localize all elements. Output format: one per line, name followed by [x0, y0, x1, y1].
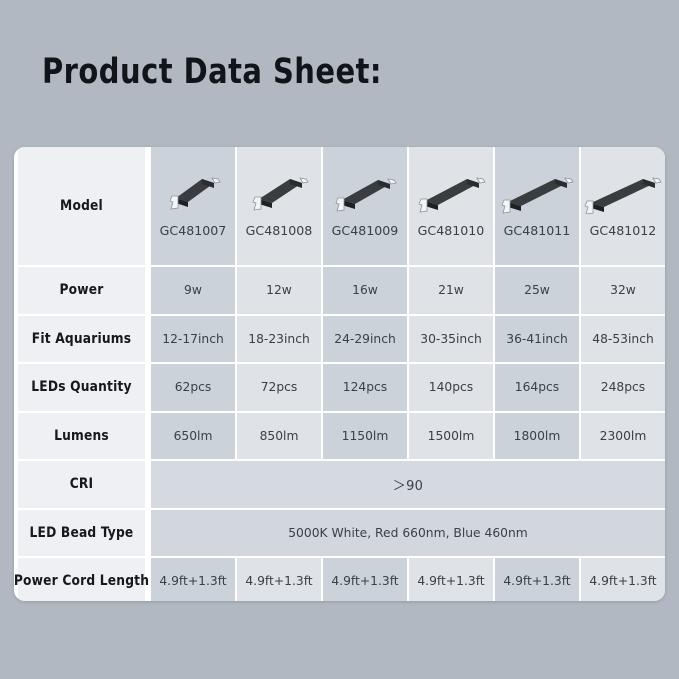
power-cells: 9w 12w 16w 21w 25w 32w: [149, 267, 665, 314]
row-label-power: Power: [18, 267, 145, 314]
leds-quantity-cells: 62pcs 72pcs 124pcs 140pcs 164pcs 248pcs: [149, 364, 665, 411]
fit-aquariums-cell-3: 24-29inch: [321, 316, 407, 363]
led-bead-type-value: 5000K White, Red 660nm, Blue 460nm: [149, 510, 665, 557]
aquarium-led-light-bar-icon: [582, 165, 664, 217]
table-row-power: Power 9w 12w 16w 21w 25w 32w: [14, 265, 665, 314]
cri-value: ＞90: [149, 461, 665, 508]
leds-quantity-cell-2: 72pcs: [235, 364, 321, 411]
row-label-power-cord-length: Power Cord Length: [18, 558, 145, 601]
aquarium-led-light-bar-icon: [414, 165, 488, 217]
power-cell-1: 9w: [149, 267, 235, 314]
model-code: GC481009: [332, 223, 399, 238]
fit-aquariums-cell-5: 36-41inch: [493, 316, 579, 363]
model-code: GC481008: [246, 223, 313, 238]
row-label-cri: CRI: [18, 461, 145, 508]
model-code: GC481007: [160, 223, 227, 238]
power-cell-4: 21w: [407, 267, 493, 314]
lumens-cells: 650lm 850lm 1150lm 1500lm 1800lm 2300lm: [149, 413, 665, 460]
model-cell-4: GC481010: [407, 147, 493, 265]
row-label-model: Model: [18, 147, 145, 265]
lumens-cell-3: 1150lm: [321, 413, 407, 460]
power-cell-3: 16w: [321, 267, 407, 314]
model-code: GC481011: [504, 223, 571, 238]
table-row-model: Model GC481007: [14, 147, 665, 265]
leds-quantity-cell-6: 248pcs: [579, 364, 665, 411]
leds-quantity-cell-3: 124pcs: [321, 364, 407, 411]
model-cell-5: GC481011: [493, 147, 579, 265]
row-label-fit-aquariums: Fit Aquariums: [18, 316, 145, 363]
table-row-cri: CRI ＞90: [14, 459, 665, 508]
row-label-led-bead-type: LED Bead Type: [18, 510, 145, 557]
model-cells: GC481007 GC481008: [149, 147, 665, 265]
led-bead-type-cells: 5000K White, Red 660nm, Blue 460nm: [149, 510, 665, 557]
model-cell-6: GC481012: [579, 147, 665, 265]
model-cell-3: GC481009: [321, 147, 407, 265]
aquarium-led-light-bar-icon: [162, 165, 224, 217]
lumens-cell-6: 2300lm: [579, 413, 665, 460]
fit-aquariums-cell-1: 12-17inch: [149, 316, 235, 363]
model-code: GC481012: [590, 223, 657, 238]
row-label-leds-quantity: LEDs Quantity: [18, 364, 145, 411]
model-code: GC481010: [418, 223, 485, 238]
power-cell-6: 32w: [579, 267, 665, 314]
aquarium-led-light-bar-icon: [246, 165, 312, 217]
power-cord-length-cell-2: 4.9ft+1.3ft: [235, 558, 321, 601]
power-cell-2: 12w: [235, 267, 321, 314]
power-cord-length-cells: 4.9ft+1.3ft 4.9ft+1.3ft 4.9ft+1.3ft 4.9f…: [149, 558, 665, 601]
leds-quantity-cell-5: 164pcs: [493, 364, 579, 411]
leds-quantity-cell-4: 140pcs: [407, 364, 493, 411]
table-row-power-cord-length: Power Cord Length 4.9ft+1.3ft 4.9ft+1.3f…: [14, 556, 665, 601]
fit-aquariums-cell-2: 18-23inch: [235, 316, 321, 363]
model-cell-2: GC481008: [235, 147, 321, 265]
row-label-lumens: Lumens: [18, 413, 145, 460]
product-data-sheet-table: Model GC481007: [14, 147, 665, 601]
fit-aquariums-cells: 12-17inch 18-23inch 24-29inch 30-35inch …: [149, 316, 665, 363]
lumens-cell-5: 1800lm: [493, 413, 579, 460]
power-cord-length-cell-3: 4.9ft+1.3ft: [321, 558, 407, 601]
power-cord-length-cell-6: 4.9ft+1.3ft: [579, 558, 665, 601]
power-cord-length-cell-1: 4.9ft+1.3ft: [149, 558, 235, 601]
table-row-leds-quantity: LEDs Quantity 62pcs 72pcs 124pcs 140pcs …: [14, 362, 665, 411]
lumens-cell-4: 1500lm: [407, 413, 493, 460]
power-cord-length-cell-4: 4.9ft+1.3ft: [407, 558, 493, 601]
table-row-led-bead-type: LED Bead Type 5000K White, Red 660nm, Bl…: [14, 508, 665, 557]
power-cord-length-cell-5: 4.9ft+1.3ft: [493, 558, 579, 601]
leds-quantity-cell-1: 62pcs: [149, 364, 235, 411]
table-row-lumens: Lumens 650lm 850lm 1150lm 1500lm 1800lm …: [14, 411, 665, 460]
table-row-fit-aquariums: Fit Aquariums 12-17inch 18-23inch 24-29i…: [14, 314, 665, 363]
model-cell-1: GC481007: [149, 147, 235, 265]
fit-aquariums-cell-6: 48-53inch: [579, 316, 665, 363]
lumens-cell-2: 850lm: [235, 413, 321, 460]
cri-cells: ＞90: [149, 461, 665, 508]
fit-aquariums-cell-4: 30-35inch: [407, 316, 493, 363]
aquarium-led-light-bar-icon: [330, 165, 400, 217]
page-title: Product Data Sheet:: [42, 52, 382, 92]
aquarium-led-light-bar-icon: [498, 165, 576, 217]
power-cell-5: 25w: [493, 267, 579, 314]
lumens-cell-1: 650lm: [149, 413, 235, 460]
